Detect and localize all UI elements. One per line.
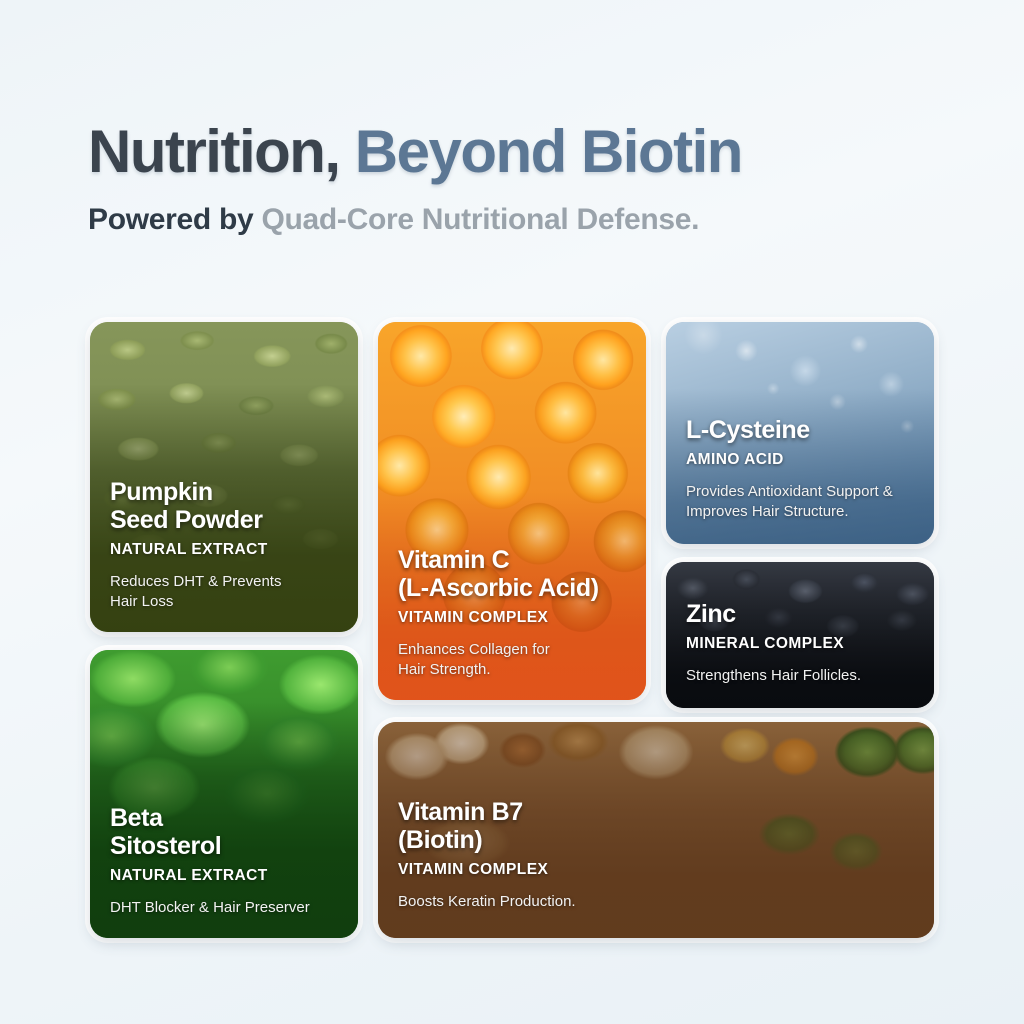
- card-title: Zinc: [686, 600, 914, 628]
- card-description: Boosts Keratin Production.: [398, 892, 914, 912]
- card-title: Beta Sitosterol: [110, 804, 338, 860]
- ingredient-card-grid: Pumpkin Seed Powder NATURAL EXTRACT Redu…: [90, 322, 934, 938]
- card-description: DHT Blocker & Hair Preserver: [110, 898, 338, 918]
- header-block: Nutrition, Beyond Biotin Powered by Quad…: [88, 120, 968, 237]
- card-title: Vitamin C (L-Ascorbic Acid): [398, 546, 626, 602]
- ingredient-card-vitamin-c[interactable]: Vitamin C (L-Ascorbic Acid) VITAMIN COMP…: [378, 322, 646, 700]
- card-category: MINERAL COMPLEX: [686, 635, 914, 653]
- page-title-primary: Nutrition,: [88, 118, 340, 185]
- card-content: Zinc MINERAL COMPLEX Strengthens Hair Fo…: [666, 600, 934, 706]
- card-description: Enhances Collagen for Hair Strength.: [398, 640, 626, 681]
- card-content: Vitamin C (L-Ascorbic Acid) VITAMIN COMP…: [378, 546, 646, 701]
- card-content: Beta Sitosterol NATURAL EXTRACT DHT Bloc…: [90, 804, 358, 938]
- card-category: VITAMIN COMPLEX: [398, 861, 914, 879]
- card-title: Pumpkin Seed Powder: [110, 478, 338, 534]
- page-subtitle-secondary: Quad-Core Nutritional Defense.: [261, 203, 699, 236]
- card-content: L-Cysteine AMINO ACID Provides Antioxida…: [666, 416, 934, 543]
- card-description: Reduces DHT & Prevents Hair Loss: [110, 572, 338, 613]
- ingredient-card-beta-sitosterol[interactable]: Beta Sitosterol NATURAL EXTRACT DHT Bloc…: [90, 650, 358, 938]
- card-category: AMINO ACID: [686, 451, 914, 469]
- ingredient-card-l-cysteine[interactable]: L-Cysteine AMINO ACID Provides Antioxida…: [666, 322, 934, 544]
- page-subtitle: Powered by Quad-Core Nutritional Defense…: [88, 203, 968, 237]
- card-category: NATURAL EXTRACT: [110, 541, 338, 559]
- card-content: Vitamin B7 (Biotin) VITAMIN COMPLEX Boos…: [378, 798, 934, 932]
- card-category: VITAMIN COMPLEX: [398, 609, 626, 627]
- card-title: Vitamin B7 (Biotin): [398, 798, 914, 854]
- ingredient-card-pumpkin-seed-powder[interactable]: Pumpkin Seed Powder NATURAL EXTRACT Redu…: [90, 322, 358, 632]
- ingredient-card-vitamin-b7[interactable]: Vitamin B7 (Biotin) VITAMIN COMPLEX Boos…: [378, 722, 934, 938]
- card-description: Strengthens Hair Follicles.: [686, 666, 914, 686]
- page-title-secondary: Beyond Biotin: [355, 118, 742, 185]
- page-subtitle-primary: Powered by: [88, 203, 253, 236]
- ingredient-card-zinc[interactable]: Zinc MINERAL COMPLEX Strengthens Hair Fo…: [666, 562, 934, 708]
- card-category: NATURAL EXTRACT: [110, 867, 338, 885]
- card-content: Pumpkin Seed Powder NATURAL EXTRACT Redu…: [90, 478, 358, 633]
- card-title: L-Cysteine: [686, 416, 914, 444]
- card-description: Provides Antioxidant Support & Improves …: [686, 482, 914, 523]
- page-title: Nutrition, Beyond Biotin: [88, 120, 968, 183]
